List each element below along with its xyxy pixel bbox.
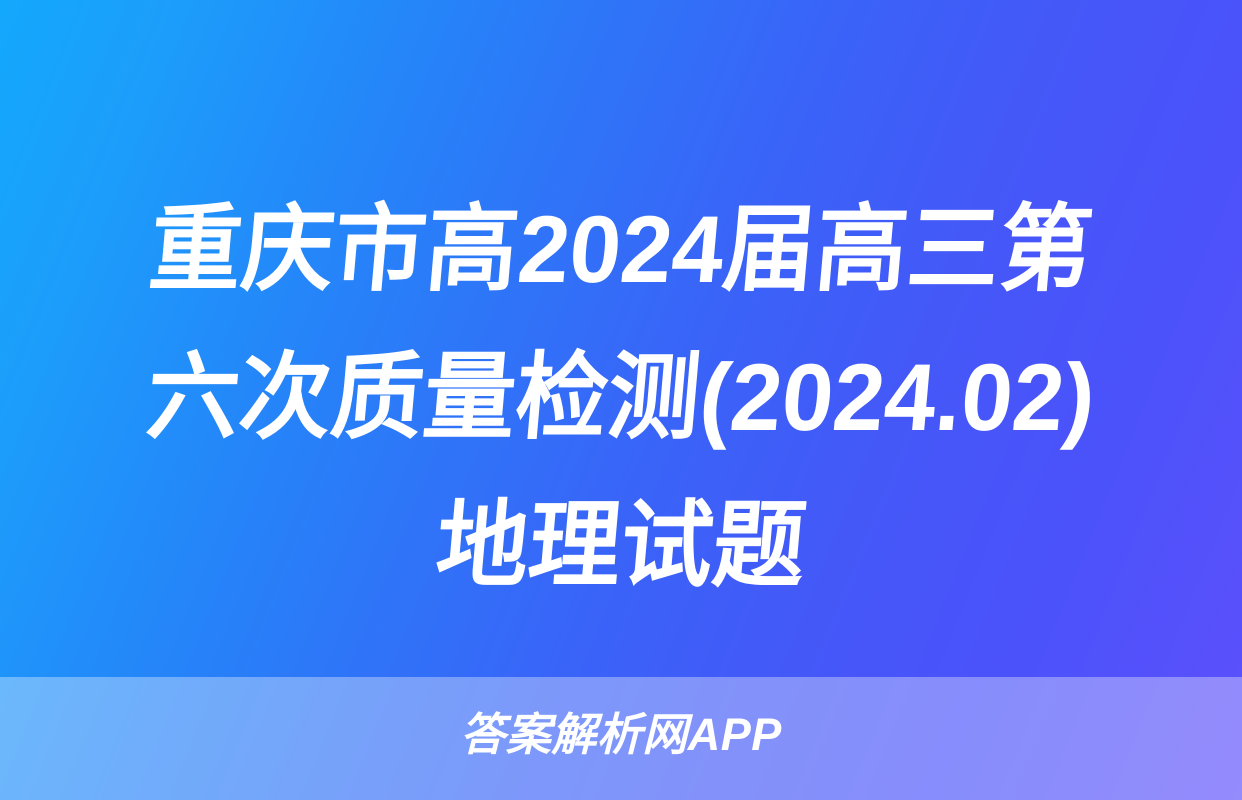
title-line-3: 地理试题 bbox=[51, 472, 1191, 620]
exam-cover-poster: 重庆市高2024届高三第 六次质量检测(2024.02) 地理试题 答案解析网A… bbox=[0, 0, 1242, 800]
page-title: 重庆市高2024届高三第 六次质量检测(2024.02) 地理试题 bbox=[0, 176, 1242, 620]
title-line-1: 重庆市高2024届高三第 bbox=[51, 176, 1191, 324]
title-line-2: 六次质量检测(2024.02) bbox=[51, 324, 1191, 472]
watermark-brand: 答案解析网APP bbox=[0, 709, 1242, 761]
